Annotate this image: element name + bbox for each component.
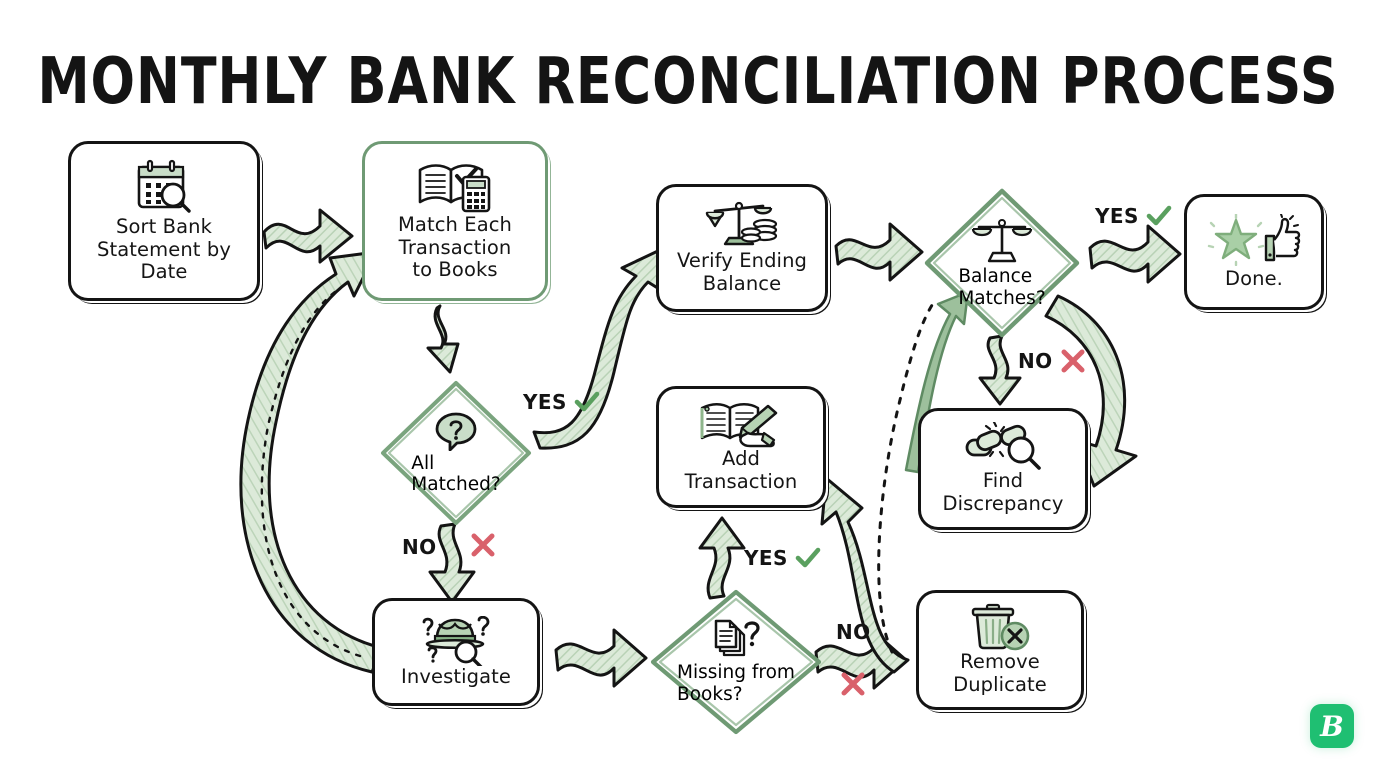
node-sort-bank-statement[interactable]: Sort Bank Statement by Date (68, 141, 260, 301)
node-label: Add Transaction (685, 448, 798, 494)
node-add-transaction[interactable]: Add Transaction (656, 386, 826, 508)
check-icon (795, 547, 821, 569)
edge-allmatched-no-to-investigate (430, 524, 474, 602)
edge-label-all-matched-no: NO (402, 535, 437, 559)
node-all-matched[interactable]: All Matched? (378, 378, 534, 528)
edge-allmatched-yes-to-verify (534, 250, 664, 448)
detective-hat-magnifier-icon (413, 616, 499, 666)
node-done[interactable]: Done. (1184, 194, 1324, 310)
node-label: Done. (1225, 268, 1283, 291)
node-remove-duplicate[interactable]: Remove Duplicate (916, 590, 1084, 710)
edge-balance-yes-to-done (1090, 226, 1180, 282)
cross-icon (840, 671, 866, 697)
edge-label-text: NO (836, 620, 871, 644)
node-investigate[interactable]: Investigate (372, 598, 540, 706)
flowchart-canvas: MONTHLY BANK RECONCILIATION PROCESS (0, 0, 1376, 768)
edge-label-missing-books-no: NO (836, 620, 871, 644)
node-verify-ending-balance[interactable]: Verify Ending Balance (656, 184, 828, 312)
edge-missing-yes-to-add (700, 518, 744, 598)
edge-label-text: NO (1018, 349, 1053, 373)
edge-label-text: YES (1095, 204, 1139, 228)
node-label: Sort Bank Statement by Date (97, 216, 231, 284)
check-icon (574, 391, 600, 413)
edge-marker-missing-books-no (840, 671, 866, 697)
edge-label-balance-matches-yes: YES (1095, 204, 1172, 228)
node-missing-from-books[interactable]: Missing from Books? (648, 588, 824, 736)
cross-icon (1060, 348, 1086, 374)
node-balance-matches[interactable]: Balance Matches? (922, 186, 1082, 340)
trash-x-icon (965, 603, 1035, 651)
node-match-each-transaction[interactable]: Match Each Transaction to Books (362, 141, 548, 301)
calendar-magnifier-icon (129, 158, 199, 216)
edge-label-text: NO (402, 535, 437, 559)
edge-marker-all-matched-no (470, 532, 496, 558)
node-label: Investigate (401, 666, 511, 689)
edge-label-all-matched-yes: YES (523, 390, 600, 414)
node-find-discrepancy[interactable]: Find Discrepancy (918, 408, 1088, 530)
check-icon (1146, 205, 1172, 227)
brand-logo-letter: B (1320, 710, 1344, 743)
scales-coins-icon (703, 200, 781, 250)
node-label: Match Each Transaction to Books (398, 214, 512, 282)
balanced-scales-icon (971, 217, 1033, 265)
edge-label-balance-matches-no: NO (1018, 348, 1086, 374)
node-label: Missing from Books? (677, 662, 795, 705)
book-pen-hand-icon (698, 400, 784, 448)
edge-sort-to-match (264, 210, 352, 262)
edge-label-text: YES (744, 546, 788, 570)
node-label: Verify Ending Balance (677, 250, 807, 296)
edge-label-missing-books-yes: YES (744, 546, 821, 570)
broken-chain-magnifier-icon (963, 422, 1043, 470)
documents-question-icon (708, 619, 764, 661)
node-label: Balance Matches? (958, 266, 1045, 309)
open-book-check-calculator-icon (416, 160, 494, 214)
edge-balance-no-to-find (980, 336, 1020, 404)
brand-logo[interactable]: B (1310, 704, 1354, 748)
edge-label-text: YES (523, 390, 567, 414)
edge-investigate-to-missing (556, 630, 646, 686)
cross-icon (470, 532, 496, 558)
node-label: Remove Duplicate (953, 651, 1047, 697)
star-thumbsup-icon (1206, 214, 1302, 266)
node-label: Find Discrepancy (943, 470, 1064, 516)
edge-match-to-allmatched (428, 306, 458, 372)
node-label: All Matched? (411, 453, 500, 496)
edge-verify-to-balancematches (836, 224, 922, 280)
question-speech-bubble-icon (434, 411, 478, 451)
edge-investigate-loop-to-match (241, 252, 382, 672)
